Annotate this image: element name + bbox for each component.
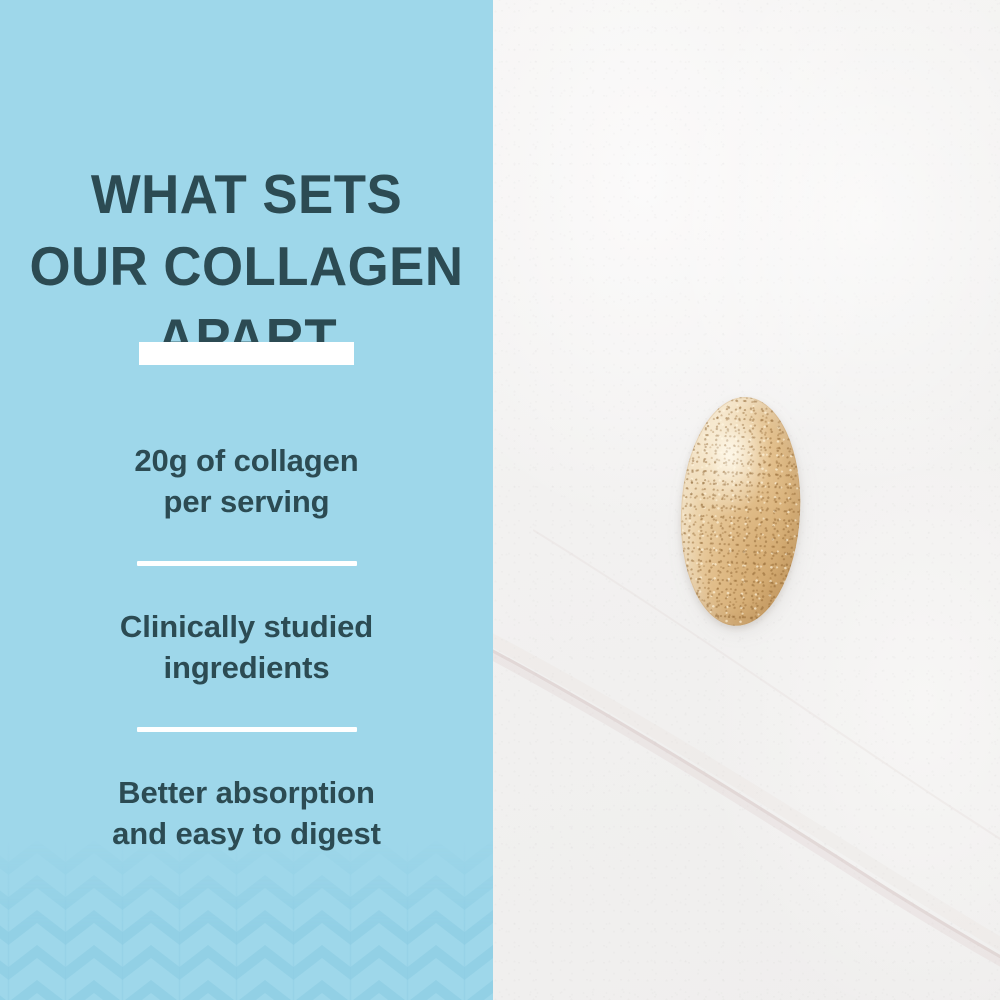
marble-product-panel: [493, 0, 1000, 1000]
heading-line-1: WHAT SETS: [10, 158, 483, 230]
benefit-3-line-1: Better absorption: [0, 772, 493, 813]
benefit-1-line-2: per serving: [0, 481, 493, 522]
product-benefits-graphic: WHAT SETS OUR COLLAGEN APART 20g of coll…: [0, 0, 1000, 1000]
benefit-2-line-1: Clinically studied: [0, 606, 493, 647]
heading-highlight-bar: [139, 342, 354, 365]
spacer: [0, 732, 493, 772]
benefit-item-2: Clinically studied ingredients: [0, 606, 493, 688]
spacer: [0, 566, 493, 606]
heading-line-2: OUR COLLAGEN: [10, 230, 483, 302]
spacer: [0, 522, 493, 561]
chevron-watermark-pattern: [0, 840, 493, 1000]
blue-info-panel: WHAT SETS OUR COLLAGEN APART 20g of coll…: [0, 0, 493, 1000]
benefit-1-line-1: 20g of collagen: [0, 440, 493, 481]
benefit-item-1: 20g of collagen per serving: [0, 440, 493, 522]
benefit-item-3: Better absorption and easy to digest: [0, 772, 493, 854]
collagen-tablet: [671, 389, 813, 635]
benefit-3-line-2: and easy to digest: [0, 813, 493, 854]
tablet-body: [675, 394, 806, 629]
benefit-2-line-2: ingredients: [0, 647, 493, 688]
spacer: [0, 688, 493, 727]
benefit-list: 20g of collagen per serving Clinically s…: [0, 440, 493, 854]
